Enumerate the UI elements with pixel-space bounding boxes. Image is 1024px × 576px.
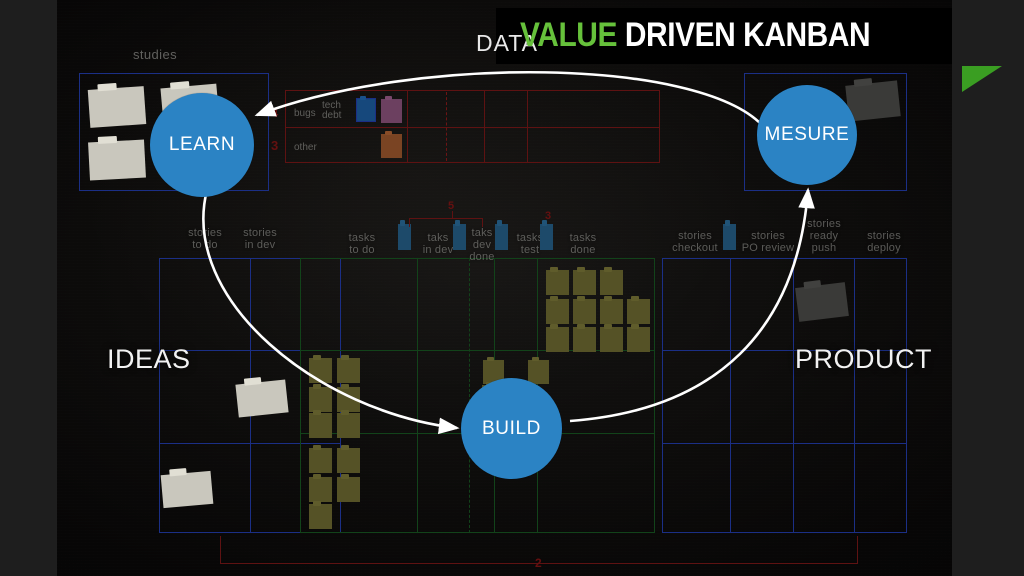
col-line1: tasks <box>557 232 609 244</box>
backlog-wip-limit: 3 <box>271 138 278 153</box>
col-line1: stories <box>854 230 914 242</box>
col-line2: deploy <box>854 242 914 254</box>
sticky-note <box>309 387 332 412</box>
column-label-tasks-done: tasks done <box>557 232 609 256</box>
title-highlight: VALUE <box>520 16 617 54</box>
total-wip-bracket-right <box>857 536 858 564</box>
wip-bracket-stem <box>452 211 453 219</box>
col-line2: in dev <box>225 239 295 251</box>
column-label-stories-ready-push: stories ready push <box>794 218 854 254</box>
sticky-note <box>309 504 332 529</box>
sticky-note <box>161 471 214 508</box>
cycle-node-mesure-label: MESURE <box>765 124 850 146</box>
column-label-tasks-to-do: tasks to do <box>332 232 392 256</box>
sticky-note <box>337 387 360 412</box>
col-line2: checkout <box>662 242 728 254</box>
build-col-divider <box>417 258 418 533</box>
cycle-node-mesure[interactable]: MESURE <box>757 85 857 185</box>
sticky-note <box>600 270 623 295</box>
backlog-row-divider <box>285 127 660 128</box>
sticky-note <box>627 299 650 324</box>
sticky-note <box>309 358 332 383</box>
sticky-note <box>845 80 900 121</box>
wip-bracket-right <box>482 218 483 227</box>
col-line2: to do <box>332 244 392 256</box>
sticky-note <box>600 327 623 352</box>
photo-frame: studies 4 3 bugs tech debt other stories… <box>57 0 952 576</box>
total-wip-limit: 2 <box>535 556 542 570</box>
backlog-col-divider <box>527 90 528 163</box>
col-line1: tasks <box>332 232 392 244</box>
backlog-col-divider <box>484 90 485 163</box>
backlog-wip-limit: 4 <box>271 105 278 120</box>
col-line3: done <box>462 251 502 263</box>
sticky-note <box>309 477 332 502</box>
col-line3: push <box>794 242 854 254</box>
col-line2: done <box>557 244 609 256</box>
sticky-note <box>88 86 147 128</box>
backlog-row-label: bugs <box>294 108 316 119</box>
avatar-magnet <box>723 224 736 250</box>
product-grid <box>662 258 907 533</box>
tech-debt-line1: tech debt <box>322 100 341 121</box>
backlog-col-divider <box>407 90 408 163</box>
sticky-note <box>546 270 569 295</box>
sticky-note <box>381 99 402 123</box>
green-triangle-marker-icon <box>962 66 1002 92</box>
col-line1: stories <box>794 218 854 230</box>
col-line2: ready <box>794 230 854 242</box>
sticky-note <box>337 477 360 502</box>
avatar-magnet <box>540 224 553 250</box>
avatar-magnet <box>398 224 411 250</box>
sticky-note <box>573 299 596 324</box>
column-label-stories-deploy: stories deploy <box>854 230 914 254</box>
col-line1: stories <box>662 230 728 242</box>
product-row-divider <box>662 443 907 444</box>
col-line1: stories <box>225 227 295 239</box>
cycle-node-build[interactable]: BUILD <box>461 378 562 479</box>
sticky-note <box>88 140 146 181</box>
sticky-note <box>309 448 332 473</box>
wip-bracket-top <box>409 218 483 219</box>
cycle-node-build-label: BUILD <box>482 418 541 440</box>
sticky-note <box>337 358 360 383</box>
sticky-note <box>528 360 549 384</box>
wip-bracket-left <box>409 218 410 227</box>
build-col-divider-dashed <box>469 258 470 533</box>
studies-label: studies <box>133 47 177 62</box>
sticky-note <box>309 413 332 438</box>
column-label-stories-in-dev: stories in dev <box>225 227 295 251</box>
column-label-stories-po-review: stories PO review <box>735 230 801 254</box>
backlog-col-divider-dashed <box>446 92 447 161</box>
col-line2: PO review <box>735 242 801 254</box>
backlog-row-label-secondary: tech debt <box>322 101 354 121</box>
avatar-magnet <box>453 224 466 250</box>
sticky-note <box>337 448 360 473</box>
total-wip-bracket-left <box>220 536 221 564</box>
avatar-magnet <box>495 224 508 250</box>
column-label-stories-checkout: stories checkout <box>662 230 728 254</box>
sticky-note <box>546 327 569 352</box>
slide-stage: studies 4 3 bugs tech debt other stories… <box>0 0 1024 576</box>
product-col-divider <box>793 258 794 533</box>
cycle-node-learn[interactable]: LEARN <box>150 93 254 197</box>
sticky-note <box>573 270 596 295</box>
product-col-divider <box>730 258 731 533</box>
sticky-note <box>235 379 288 417</box>
col-line1: stories <box>735 230 801 242</box>
sticky-note <box>546 299 569 324</box>
sticky-note <box>356 98 376 122</box>
label-product: PRODUCT <box>795 344 932 375</box>
sticky-note <box>795 282 849 322</box>
title-rest: DRIVEN KANBAN <box>625 16 870 54</box>
wip-limit-test: 3 <box>545 210 551 222</box>
sticky-note <box>381 134 402 158</box>
sticky-note <box>337 413 360 438</box>
cycle-node-learn-label: LEARN <box>169 134 235 156</box>
sticky-note <box>627 327 650 352</box>
sticky-note <box>573 327 596 352</box>
label-ideas: IDEAS <box>107 344 191 375</box>
product-col-divider <box>854 258 855 533</box>
page-title: VALUE DRIVEN KANBAN <box>520 16 870 55</box>
backlog-row-label: other <box>294 142 317 153</box>
sticky-note <box>600 299 623 324</box>
